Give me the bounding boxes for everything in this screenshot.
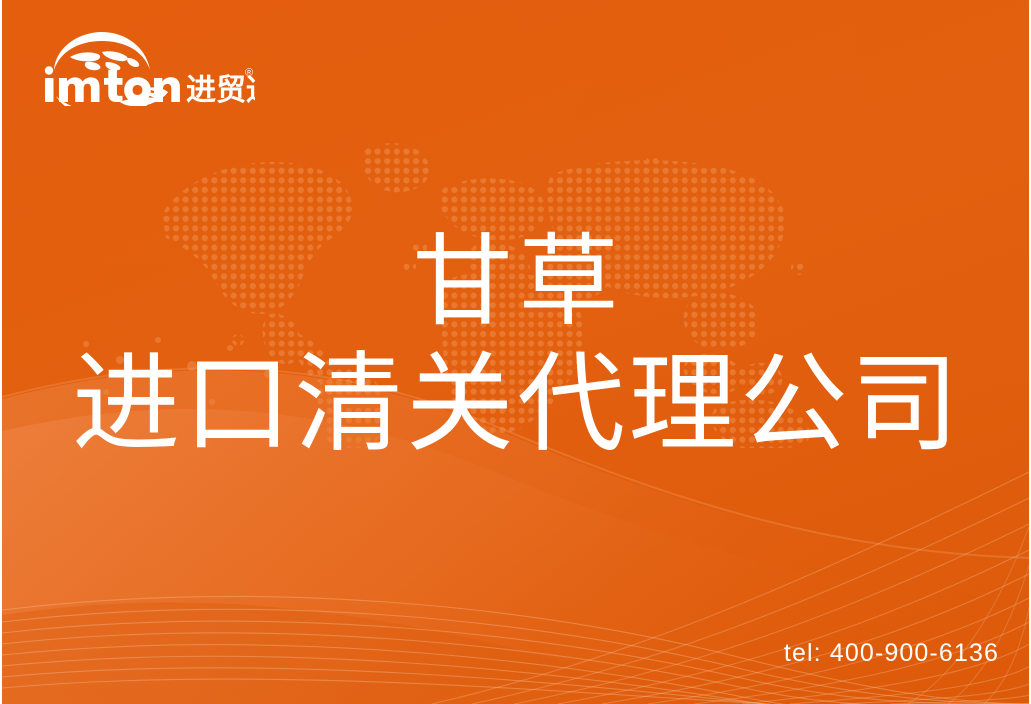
trademark-symbol: ®: [245, 67, 253, 79]
contact-telephone[interactable]: tel: 400-900-6136: [784, 639, 999, 668]
page-title: 甘草 进口清关代理公司: [2, 232, 1029, 458]
brand-logo[interactable]: 进贸通 ®: [40, 28, 255, 106]
headline-line-2: 进口清关代理公司: [2, 350, 1029, 458]
poster-canvas: 进贸通 ® 甘草 进口清关代理公司 tel: 400-900-6136: [0, 0, 1031, 704]
headline-line-1: 甘草: [2, 232, 1029, 332]
globe-arc-icon: [54, 32, 150, 70]
